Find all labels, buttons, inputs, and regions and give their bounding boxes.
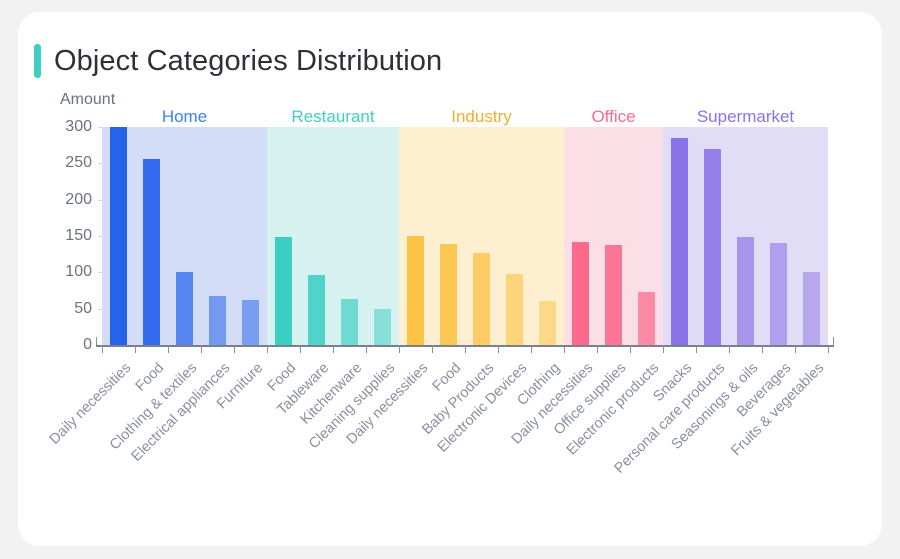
bar[interactable] bbox=[275, 237, 292, 345]
x-tick bbox=[828, 345, 829, 353]
bar[interactable] bbox=[704, 149, 721, 345]
x-tick bbox=[630, 345, 631, 353]
x-tick bbox=[300, 345, 301, 353]
x-axis-cap-right bbox=[833, 337, 834, 346]
bar[interactable] bbox=[374, 309, 391, 345]
x-axis-cap-left bbox=[96, 337, 97, 346]
x-tick bbox=[564, 345, 565, 353]
bar[interactable] bbox=[605, 245, 622, 345]
x-tick bbox=[267, 345, 268, 353]
x-tick bbox=[762, 345, 763, 353]
bar[interactable] bbox=[176, 272, 193, 345]
x-tick bbox=[465, 345, 466, 353]
y-tick-label: 250 bbox=[65, 154, 92, 172]
x-tick bbox=[597, 345, 598, 353]
plot-area bbox=[102, 127, 828, 345]
x-tick bbox=[102, 345, 103, 353]
bar[interactable] bbox=[341, 299, 358, 345]
group-label-industry: Industry bbox=[451, 107, 511, 127]
x-tick bbox=[498, 345, 499, 353]
bar[interactable] bbox=[143, 159, 160, 345]
x-tick bbox=[135, 345, 136, 353]
x-tick bbox=[696, 345, 697, 353]
bar[interactable] bbox=[110, 127, 127, 345]
bar[interactable] bbox=[671, 138, 688, 345]
y-tick-label: 50 bbox=[74, 300, 92, 318]
title-accent-bar bbox=[34, 44, 41, 78]
chart-card: Object Categories Distribution Amount Ho… bbox=[18, 12, 882, 546]
y-axis-title: Amount bbox=[60, 91, 115, 109]
x-tick bbox=[663, 345, 664, 353]
x-tick bbox=[399, 345, 400, 353]
bar[interactable] bbox=[242, 300, 259, 345]
y-tick-label: 300 bbox=[65, 118, 92, 136]
y-tick-label: 100 bbox=[65, 263, 92, 281]
bar[interactable] bbox=[770, 243, 787, 345]
x-tick bbox=[234, 345, 235, 353]
x-tick bbox=[366, 345, 367, 353]
group-label-supermarket: Supermarket bbox=[697, 107, 794, 127]
y-tick-label: 0 bbox=[83, 336, 92, 354]
group-label-restaurant: Restaurant bbox=[291, 107, 374, 127]
bar[interactable] bbox=[572, 242, 589, 345]
group-label-home: Home bbox=[162, 107, 207, 127]
x-tick bbox=[795, 345, 796, 353]
bar[interactable] bbox=[803, 272, 820, 345]
bar[interactable] bbox=[539, 301, 556, 345]
page-title: Object Categories Distribution bbox=[54, 45, 442, 78]
x-tick bbox=[201, 345, 202, 353]
bar[interactable] bbox=[737, 237, 754, 345]
bar[interactable] bbox=[506, 274, 523, 345]
bar-series bbox=[102, 127, 828, 345]
x-tick bbox=[729, 345, 730, 353]
y-tick-label: 200 bbox=[65, 191, 92, 209]
bar[interactable] bbox=[407, 236, 424, 345]
bar[interactable] bbox=[638, 292, 655, 345]
y-axis-tick-labels: 050100150200250300 bbox=[38, 127, 92, 345]
x-tick bbox=[168, 345, 169, 353]
bar[interactable] bbox=[473, 253, 490, 345]
x-tick bbox=[531, 345, 532, 353]
bar[interactable] bbox=[308, 275, 325, 345]
y-tick-label: 150 bbox=[65, 227, 92, 245]
x-tick bbox=[333, 345, 334, 353]
bar[interactable] bbox=[209, 296, 226, 345]
group-label-office: Office bbox=[591, 107, 635, 127]
x-tick bbox=[432, 345, 433, 353]
bar[interactable] bbox=[440, 244, 457, 345]
chart-header: Object Categories Distribution bbox=[34, 44, 442, 78]
